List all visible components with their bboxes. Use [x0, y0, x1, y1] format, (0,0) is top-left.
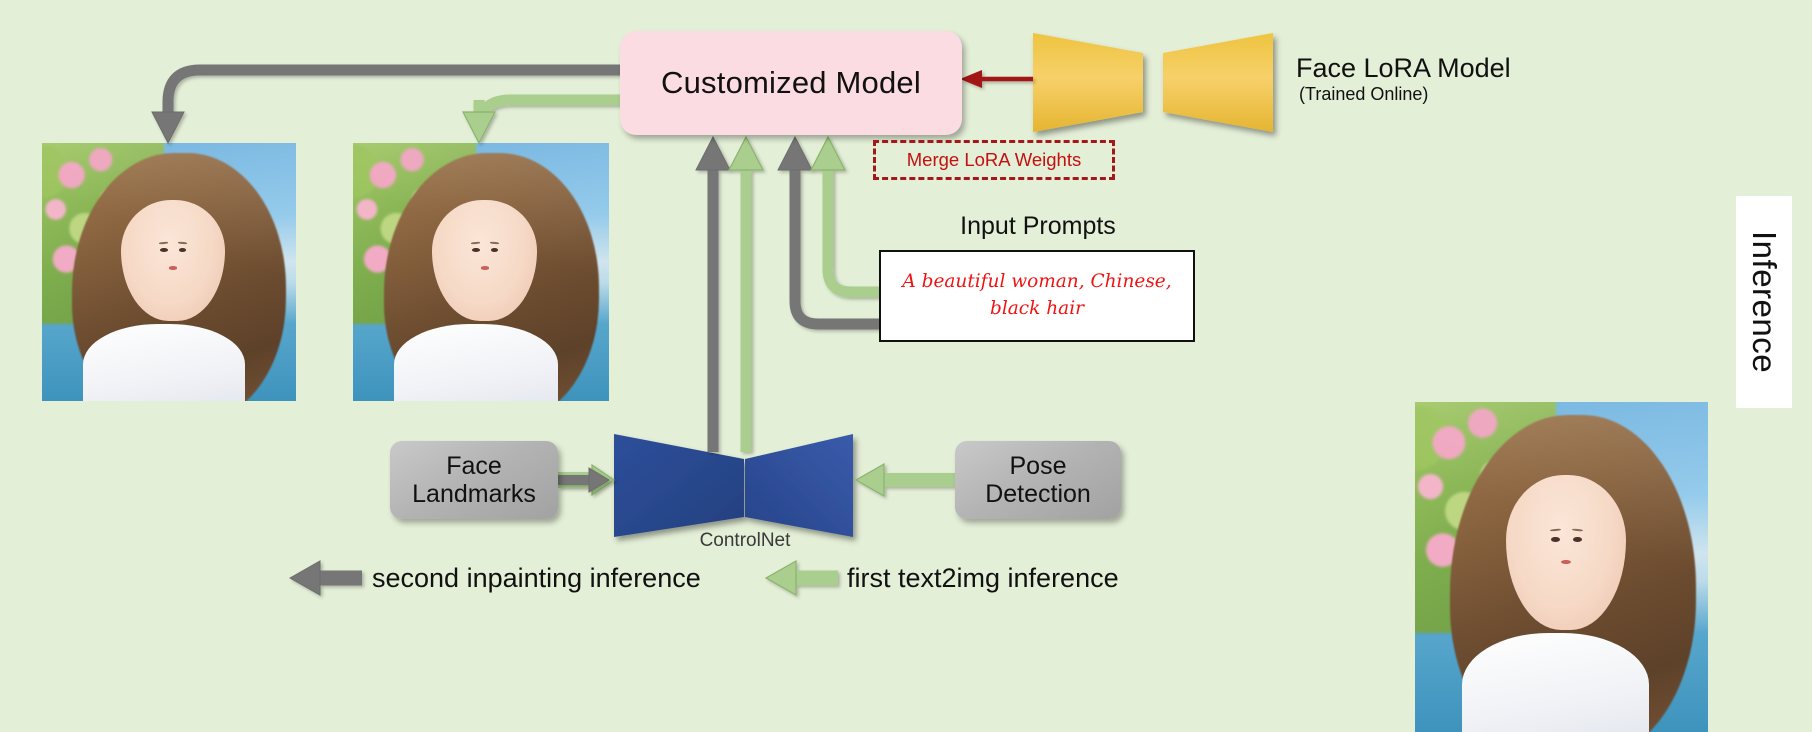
- controlnet-to-model-green-arrow: [729, 137, 763, 452]
- controlnet-shape: [614, 434, 853, 537]
- input-prompts-text: Input Prompts: [960, 212, 1116, 240]
- legend-second-inpainting-label: second inpainting inference: [372, 563, 701, 594]
- controlnet-text: ControlNet: [700, 530, 791, 551]
- inference-text: Inference: [1745, 231, 1783, 373]
- prompt-to-model-green-arrow: [811, 137, 879, 292]
- pose-detection-line1: Pose: [1010, 452, 1067, 480]
- customized-model-label: Customized Model: [661, 65, 921, 101]
- pose-to-controlnet-green-arrow: [856, 464, 955, 496]
- photo-light-overlay: [1415, 402, 1708, 732]
- merge-lora-weights-badge: Merge LoRA Weights: [873, 140, 1115, 180]
- prompt-value: A beautiful woman, Chinese, black hair: [895, 269, 1179, 323]
- face-landmarks-line1: Face: [446, 452, 502, 480]
- face-lora-decoder-shape: [1163, 33, 1273, 132]
- lora-to-model-arrow: [960, 70, 1033, 88]
- model-to-intermediate-green-arrow: [463, 100, 620, 143]
- diagram-canvas: Customized Model Face LoRA Model (Traine…: [0, 0, 1812, 732]
- merge-lora-label: Merge LoRA Weights: [907, 149, 1081, 171]
- photo-light-overlay: [353, 143, 609, 401]
- face-lora-title: Face LoRA Model: [1296, 54, 1726, 82]
- face-lora-encoder-shape: [1033, 33, 1143, 132]
- face-landmarks-node[interactable]: Face Landmarks: [390, 441, 558, 519]
- face-lora-model-label: Face LoRA Model (Trained Online): [1296, 54, 1726, 108]
- customized-model-node[interactable]: Customized Model: [620, 31, 962, 135]
- face-lora-subtitle: (Trained Online): [1296, 82, 1726, 107]
- pose-detection-line2: Detection: [985, 480, 1091, 508]
- reference-portrait: [1415, 402, 1708, 732]
- model-to-output-gray-arrow: [152, 70, 620, 143]
- legend-first-text2img-label: first text2img inference: [847, 563, 1119, 594]
- controlnet-to-model-gray-arrow: [696, 137, 730, 452]
- controlnet-label: ControlNet: [600, 530, 890, 552]
- input-prompts-label: Input Prompts: [950, 212, 1126, 241]
- intermediate-portrait: [353, 143, 609, 401]
- face-landmarks-line2: Landmarks: [412, 480, 536, 508]
- photo-light-overlay: [42, 143, 296, 401]
- pose-detection-node[interactable]: Pose Detection: [955, 441, 1121, 519]
- landmarks-to-controlnet-gray-arrow: [558, 468, 609, 492]
- landmarks-to-controlnet-green-arrow: [558, 465, 614, 495]
- legend-first-arrow: [766, 561, 838, 595]
- output-inpainted-portrait: [42, 143, 296, 401]
- prompt-input-box[interactable]: A beautiful woman, Chinese, black hair: [879, 250, 1195, 342]
- legend-second-arrow: [290, 561, 362, 595]
- inference-side-label: Inference: [1736, 196, 1792, 408]
- prompt-to-model-gray-arrow: [778, 137, 879, 324]
